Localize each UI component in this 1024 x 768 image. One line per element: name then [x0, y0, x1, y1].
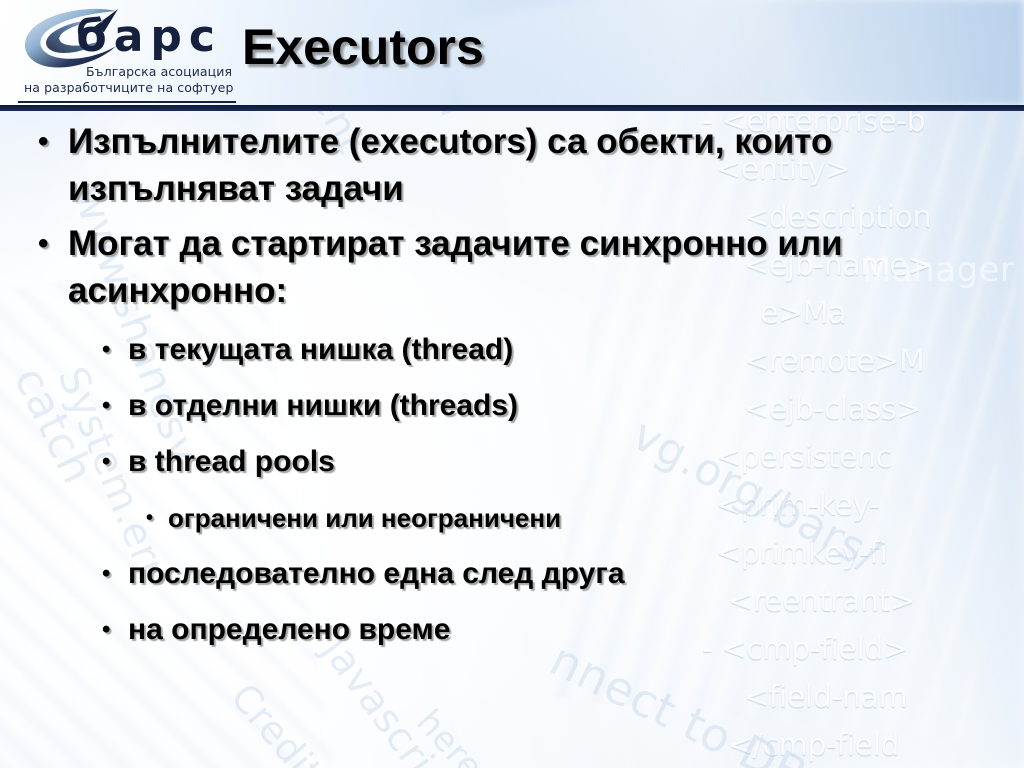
bads-logo: бapc Българска асоциация на разработчици… [18, 4, 230, 100]
bullet-text: Могат да стартират задачите синхронно ил… [68, 220, 898, 314]
header-shade [684, 0, 1024, 105]
slide-header: бapc Българска асоциация на разработчици… [0, 0, 1024, 105]
bullet-level2: • на определено време [102, 602, 902, 658]
bullet-glyph: • [102, 602, 128, 658]
bullet-level2: • в отделни нишки (threads) [102, 378, 902, 434]
logo-underline [18, 101, 236, 103]
bullet-text: в текущата нишка (thread) [128, 322, 902, 378]
bullet-level2: • последователно една след друга [102, 546, 902, 602]
slide-body: • Изпълнителите (executors) са обекти, к… [0, 118, 1024, 768]
bullet-text: Изпълнителите (executors) са обекти, кои… [68, 118, 898, 212]
bullet-level1: • Изпълнителите (executors) са обекти, к… [38, 118, 918, 212]
bullet-glyph: • [102, 378, 128, 434]
header-divider-rule [0, 105, 1024, 111]
bullet-level2: • в thread pools [102, 434, 902, 490]
bullet-text: на определено време [128, 602, 902, 658]
bullet-level3: • ограничени или неограничени [146, 490, 906, 546]
bullet-text: ограничени или неограничени [168, 490, 906, 546]
bullet-level2: • в текущата нишка (thread) [102, 322, 902, 378]
bullet-glyph: • [102, 434, 128, 490]
bullet-glyph: • [102, 322, 128, 378]
logo-subtitle-line1: Българска асоциация [86, 64, 232, 79]
bullet-text: в отделни нишки (threads) [128, 378, 902, 434]
bullet-glyph: • [146, 490, 168, 546]
presentation-slide: - <ejb-jar> <display-name - <enterprise-… [0, 0, 1024, 768]
logo-wordmark: бapc [76, 11, 222, 63]
bullet-glyph: • [102, 546, 128, 602]
bullet-level1: • Могат да стартират задачите синхронно … [38, 220, 918, 314]
slide-title: Executors [242, 16, 484, 78]
logo-subtitle-line2: на разработчиците на софтуер [24, 80, 233, 95]
bullet-glyph: • [38, 220, 68, 267]
bullet-glyph: • [38, 118, 68, 165]
bullet-text: в thread pools [128, 434, 902, 490]
bullet-text: последователно една след друга [128, 546, 902, 602]
